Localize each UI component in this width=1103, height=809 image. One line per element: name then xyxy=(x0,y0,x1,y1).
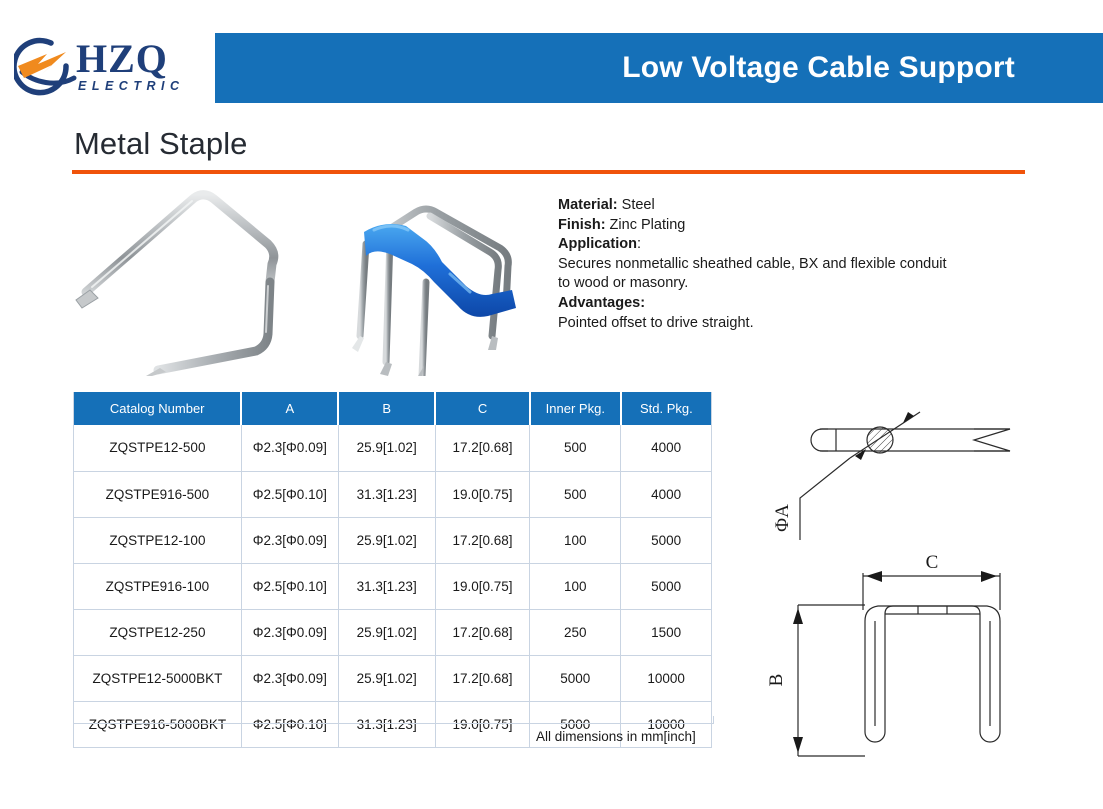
staple-outline-drawing: C B xyxy=(762,548,1092,803)
cell-c: 17.2[0.68] xyxy=(435,655,530,701)
dimension-c-label: C xyxy=(926,552,939,573)
cell-catalog-number: ZQSTPE12-5000BKT xyxy=(74,655,242,701)
column-header-c: C xyxy=(435,392,530,425)
table-row: ZQSTPE916-100 Φ2.5[Φ0.10] 31.3[1.23] 19.… xyxy=(74,563,712,609)
cell-std-pkg: 4000 xyxy=(621,471,712,517)
page-title: Metal Staple xyxy=(74,126,248,162)
cell-c: 19.0[0.75] xyxy=(435,701,530,747)
logo-mark-icon xyxy=(14,41,74,93)
cell-b: 25.9[1.02] xyxy=(338,517,435,563)
table-bottom-border xyxy=(73,716,714,724)
header-title: Low Voltage Cable Support xyxy=(622,51,1103,85)
cell-std-pkg: 4000 xyxy=(621,425,712,471)
cell-std-pkg: 5000 xyxy=(621,563,712,609)
cell-catalog-number: ZQSTPE12-100 xyxy=(74,517,242,563)
cell-b: 31.3[1.23] xyxy=(338,701,435,747)
cell-c: 17.2[0.68] xyxy=(435,609,530,655)
specification-text: Material: Steel Finish: Zinc Plating App… xyxy=(558,196,1058,333)
cell-b: 31.3[1.23] xyxy=(338,563,435,609)
cell-inner-pkg: 250 xyxy=(530,609,621,655)
cell-b: 25.9[1.02] xyxy=(338,425,435,471)
cell-a: Φ2.3[Φ0.09] xyxy=(241,609,338,655)
metal-staple-photo xyxy=(72,186,322,376)
cell-a: Φ2.5[Φ0.10] xyxy=(241,471,338,517)
cell-c: 19.0[0.75] xyxy=(435,471,530,517)
column-header-catalog-number: Catalog Number xyxy=(74,392,242,425)
table-header-row: Catalog Number A B C Inner Pkg. Std. Pkg… xyxy=(74,392,712,425)
cell-std-pkg: 5000 xyxy=(621,517,712,563)
cell-catalog-number: ZQSTPE12-500 xyxy=(74,425,242,471)
cell-a: Φ2.3[Φ0.09] xyxy=(241,425,338,471)
cell-catalog-number: ZQSTPE916-100 xyxy=(74,563,242,609)
cell-b: 31.3[1.23] xyxy=(338,471,435,517)
cell-a: Φ2.3[Φ0.09] xyxy=(241,517,338,563)
table-body: ZQSTPE12-500 Φ2.3[Φ0.09] 25.9[1.02] 17.2… xyxy=(74,425,712,747)
cell-c: 19.0[0.75] xyxy=(435,563,530,609)
table-row: ZQSTPE12-500 Φ2.3[Φ0.09] 25.9[1.02] 17.2… xyxy=(74,425,712,471)
application-label: Application xyxy=(558,236,637,252)
table-row: ZQSTPE12-250 Φ2.3[Φ0.09] 25.9[1.02] 17.2… xyxy=(74,609,712,655)
cell-a: Φ2.5[Φ0.10] xyxy=(241,701,338,747)
table-row: ZQSTPE12-100 Φ2.3[Φ0.09] 25.9[1.02] 17.2… xyxy=(74,517,712,563)
company-logo: HZQ ELECTRIC xyxy=(14,28,214,106)
cell-inner-pkg: 5000 xyxy=(530,655,621,701)
column-header-inner-pkg: Inner Pkg. xyxy=(530,392,621,425)
table-row: ZQSTPE12-5000BKT Φ2.3[Φ0.09] 25.9[1.02] … xyxy=(74,655,712,701)
column-header-std-pkg: Std. Pkg. xyxy=(621,392,712,425)
title-divider xyxy=(72,170,1025,174)
advantages-label: Advantages: xyxy=(558,294,1058,314)
cell-inner-pkg: 100 xyxy=(530,563,621,609)
cell-c: 17.2[0.68] xyxy=(435,425,530,471)
specification-table: Catalog Number A B C Inner Pkg. Std. Pkg… xyxy=(73,392,712,748)
cell-catalog-number: ZQSTPE916-500 xyxy=(74,471,242,517)
cell-inner-pkg: 100 xyxy=(530,517,621,563)
collated-staple-photo xyxy=(330,186,555,376)
application-line: Application: xyxy=(558,235,1058,255)
dimension-b-label: B xyxy=(766,674,787,687)
cell-std-pkg: 10000 xyxy=(621,655,712,701)
cell-a: Φ2.5[Φ0.10] xyxy=(241,563,338,609)
finish-line: Finish: Zinc Plating xyxy=(558,216,1058,236)
column-header-b: B xyxy=(338,392,435,425)
material-line: Material: Steel xyxy=(558,196,1058,216)
cell-catalog-number: ZQSTPE12-250 xyxy=(74,609,242,655)
cell-catalog-number: ZQSTPE916-5000BKT xyxy=(74,701,242,747)
cell-b: 25.9[1.02] xyxy=(338,655,435,701)
datasheet-page: HZQ ELECTRIC Low Voltage Cable Support M… xyxy=(0,0,1103,809)
application-text-line-2: to wood or masonry. xyxy=(558,274,1058,294)
pin-cross-section-drawing: ΦA xyxy=(762,400,1092,550)
header-banner: Low Voltage Cable Support xyxy=(215,33,1103,103)
dimension-note: All dimensions in mm[inch] xyxy=(536,729,696,744)
cell-std-pkg: 1500 xyxy=(621,609,712,655)
logo-tagline-text: ELECTRIC xyxy=(78,79,185,93)
cell-inner-pkg: 500 xyxy=(530,425,621,471)
finish-value: Zinc Plating xyxy=(606,217,686,233)
cell-inner-pkg: 500 xyxy=(530,471,621,517)
cell-c: 17.2[0.68] xyxy=(435,517,530,563)
material-label: Material: xyxy=(558,197,618,213)
table-row: ZQSTPE916-500 Φ2.5[Φ0.10] 31.3[1.23] 19.… xyxy=(74,471,712,517)
column-header-a: A xyxy=(241,392,338,425)
diameter-a-label: ΦA xyxy=(772,504,793,532)
advantages-value: Pointed offset to drive straight. xyxy=(558,314,1058,334)
logo-brand-text: HZQ xyxy=(76,36,168,81)
cell-b: 25.9[1.02] xyxy=(338,609,435,655)
cell-a: Φ2.3[Φ0.09] xyxy=(241,655,338,701)
material-value: Steel xyxy=(618,197,655,213)
application-text-line-1: Secures nonmetallic sheathed cable, BX a… xyxy=(558,255,1058,275)
finish-label: Finish: xyxy=(558,217,606,233)
application-colon: : xyxy=(637,236,641,252)
